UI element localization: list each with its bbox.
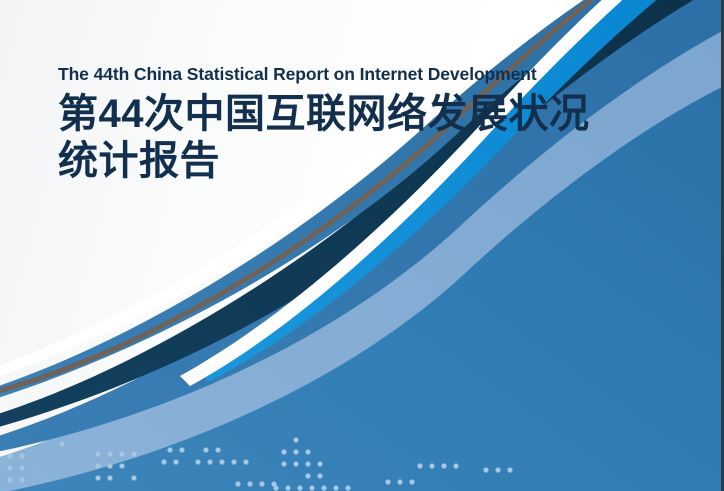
report-cover-page: The 44th China Statistical Report on Int… bbox=[0, 0, 724, 491]
title-block: The 44th China Statistical Report on Int… bbox=[58, 64, 618, 185]
report-subtitle-english: The 44th China Statistical Report on Int… bbox=[58, 64, 618, 85]
report-title-chinese: 第44次中国互联网络发展状况统计报告 bbox=[58, 91, 598, 185]
